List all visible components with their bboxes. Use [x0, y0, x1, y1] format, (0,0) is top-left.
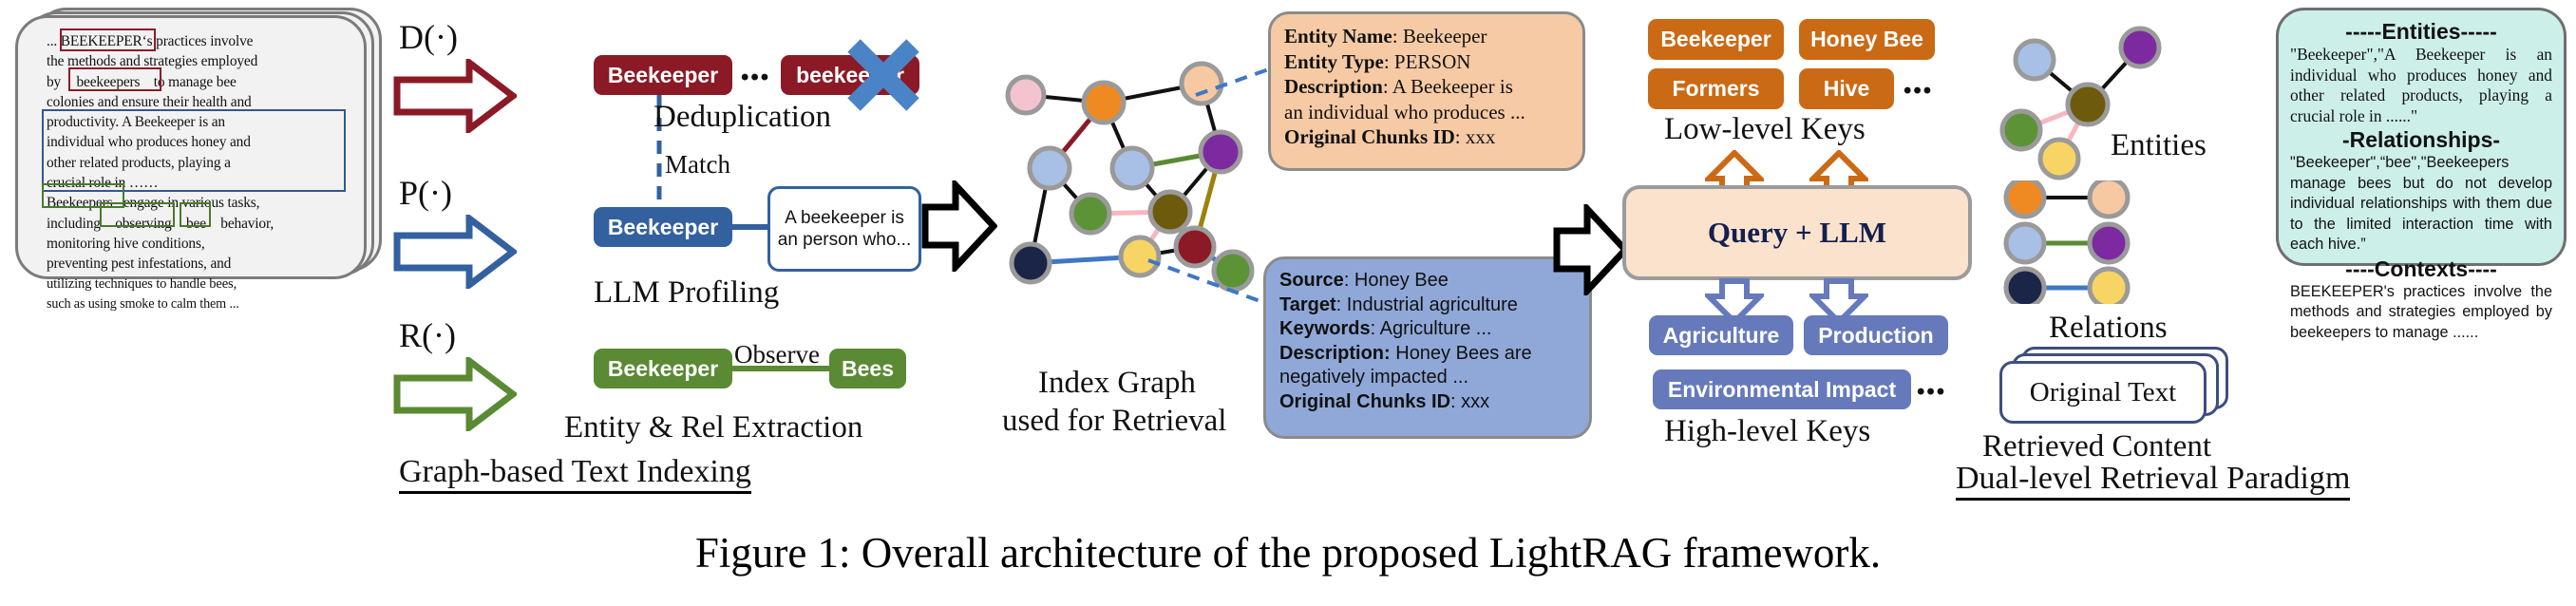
- stage-label-entity-rel-extraction: Entity & Rel Extraction: [564, 410, 862, 445]
- doc-sheet-front: ... BEEKEEPER‘s practices involve the me…: [15, 15, 367, 279]
- relations-label: Relations: [2049, 311, 2168, 346]
- relation-row-3: Description: Honey Bees are: [1279, 342, 1576, 367]
- doc-line-13: utilizing techniques to handle bees,: [47, 275, 347, 294]
- retrieved-content-label: Retrieved Content: [1982, 429, 2211, 464]
- output-entities-header: -----Entities-----: [2290, 18, 2552, 45]
- output-relationships-body: "Beekeeper",“bee","Beekeepers manage bee…: [2290, 153, 2552, 256]
- dedup-ellipsis: •••: [741, 65, 770, 91]
- relation-row-0: Source: Honey Bee: [1279, 269, 1576, 294]
- operator-profiling-label: P(·): [399, 173, 452, 213]
- arrow-to-retrieval: [1553, 204, 1629, 295]
- doc-line-14: such as using smoke to calm them ...: [47, 294, 347, 314]
- profile-connector: [730, 222, 770, 232]
- source-document-stack: ... BEEKEEPER‘s practices involve the me…: [13, 8, 386, 277]
- node-beekeeper-dedup-a[interactable]: Beekeeper: [594, 55, 732, 95]
- doc-line-12: preventing pest infestations, and: [47, 254, 347, 274]
- node-bees-extract[interactable]: Bees: [829, 349, 906, 388]
- arrow-dedup: [393, 59, 517, 133]
- highlight-box-observing: [100, 202, 175, 227]
- relation-row-4: negatively impacted ...: [1279, 366, 1576, 390]
- highlight-box-beekeepers-1: [68, 67, 161, 91]
- relation-row-5: Original Chunks ID: xxx: [1279, 390, 1576, 415]
- query-llm-box[interactable]: Query + LLM: [1622, 185, 1972, 280]
- low-keys-ellipsis: •••: [1904, 78, 1933, 104]
- high-key-environmental-impact[interactable]: Environmental Impact: [1653, 369, 1911, 409]
- entity-record-card: Entity Name: Beekeeper Entity Type: PERS…: [1268, 11, 1585, 171]
- relations-mini-graph: [1985, 180, 2175, 304]
- relation-record-card: Source: Honey Bee Target: Industrial agr…: [1263, 256, 1592, 439]
- high-level-keys-label: High-level Keys: [1664, 414, 1870, 449]
- operator-extraction-label: R(·): [399, 315, 456, 355]
- profile-callout: A beekeeper is an person who...: [767, 186, 921, 272]
- output-relationships-header: -Relationships-: [2290, 126, 2552, 153]
- source-text-body: ... BEEKEEPER‘s practices involve the me…: [47, 31, 347, 271]
- entity-row-4: Original Chunks ID: xxx: [1284, 124, 1569, 150]
- high-key-production[interactable]: Production: [1804, 315, 1948, 355]
- label-match: Match: [665, 150, 730, 180]
- output-entities-body: "Beekeeper","A Beekeeper is an individua…: [2290, 45, 2552, 126]
- highlight-box-beekeeper-caps: [60, 28, 156, 51]
- output-panel: -----Entities----- "Beekeeper","A Beekee…: [2276, 8, 2567, 266]
- stage-label-deduplication: Deduplication: [653, 100, 831, 135]
- entity-row-0: Entity Name: Beekeeper: [1284, 24, 1569, 49]
- edge-label-observe: Observe: [734, 340, 820, 369]
- node-beekeeper-extract[interactable]: Beekeeper: [594, 349, 732, 388]
- arrow-to-index-graph: [921, 180, 997, 272]
- index-graph-label-line2: used for Retrieval: [1002, 404, 1226, 439]
- high-keys-ellipsis: •••: [1917, 379, 1946, 406]
- section-label-graph-indexing: Graph-based Text Indexing: [399, 454, 751, 494]
- stage-label-llm-profiling: LLM Profiling: [594, 275, 779, 311]
- low-key-beekeeper[interactable]: Beekeeper: [1648, 19, 1784, 60]
- arrow-profiling: [393, 215, 517, 289]
- original-text-card-front[interactable]: Original Text: [1999, 361, 2207, 424]
- high-key-agriculture[interactable]: Agriculture: [1649, 315, 1793, 355]
- relation-row-1: Target: Industrial agriculture: [1279, 294, 1576, 318]
- arrow-extraction: [393, 357, 517, 431]
- output-contexts-header: ----Contexts----: [2290, 256, 2552, 282]
- low-key-formers[interactable]: Formers: [1648, 68, 1784, 109]
- original-text-label: Original Text: [2030, 377, 2177, 408]
- operator-dedup-label: D(·): [399, 17, 458, 57]
- output-contexts-body: BEEKEEPER's practices involve the method…: [2290, 282, 2552, 344]
- highlight-box-profile-chunk: [42, 109, 346, 192]
- entity-row-1: Entity Type: PERSON: [1284, 49, 1569, 75]
- low-key-hive[interactable]: Hive: [1799, 68, 1894, 109]
- doc-line-10d: behavior,: [220, 216, 274, 232]
- relation-row-2: Keywords: Agriculture ...: [1279, 317, 1576, 342]
- index-graph-label-line1: Index Graph: [1038, 366, 1196, 401]
- doc-line-11: monitoring hive conditions,: [47, 234, 347, 254]
- entity-row-2: Description: A Beekeeper is: [1284, 74, 1569, 100]
- entities-label: Entities: [2111, 128, 2207, 163]
- entity-row-3: an individual who produces ...: [1284, 100, 1569, 125]
- low-level-keys-label: Low-level Keys: [1664, 112, 1866, 147]
- low-key-honey-bee[interactable]: Honey Bee: [1799, 19, 1935, 60]
- doc-line-10a: including: [47, 216, 101, 232]
- dedup-cross-icon: [841, 34, 926, 116]
- figure-caption: Figure 1: Overall architecture of the pr…: [0, 528, 2576, 578]
- highlight-box-bee: [180, 202, 211, 227]
- figure-canvas: ... BEEKEEPER‘s practices involve the me…: [0, 0, 2576, 606]
- doc-line-3c: to manage bee: [154, 74, 237, 90]
- node-beekeeper-profile[interactable]: Beekeeper: [594, 207, 732, 247]
- doc-line-3a: by: [47, 74, 61, 90]
- section-label-dual-level-retrieval: Dual-level Retrieval Paradigm: [1956, 461, 2350, 501]
